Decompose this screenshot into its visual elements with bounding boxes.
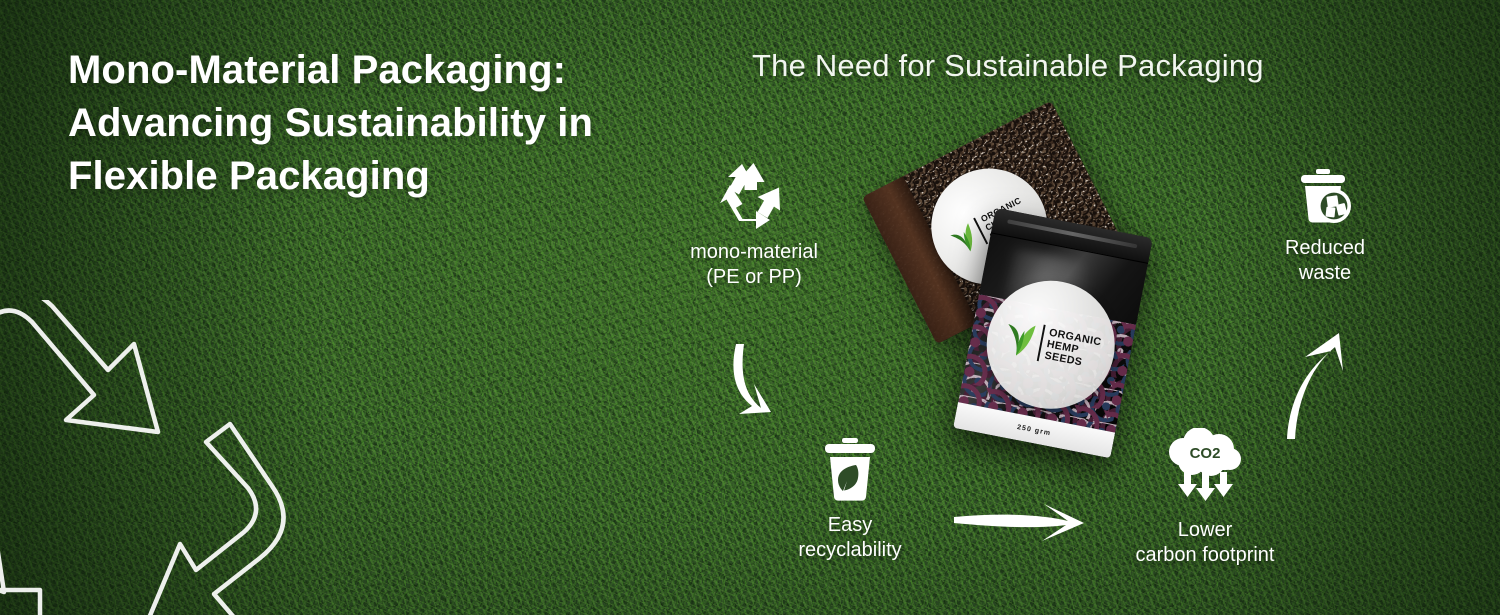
sustainable-packaging-banner: Mono-Material Packaging: Advancing Susta…: [0, 0, 1500, 615]
page-title: Mono-Material Packaging: Advancing Susta…: [68, 44, 628, 203]
co2-icon-label: CO2: [1190, 445, 1221, 462]
trash-reduce-icon: [1296, 168, 1354, 226]
hemp-pack-weight: 250 grm: [1016, 423, 1051, 436]
co2-cloud-arrows-icon: CO2: [1159, 428, 1251, 508]
node-mono-material-caption-line-1: mono-material: [634, 240, 874, 265]
node-lower-carbon-footprint-caption-line-1: Lower: [1085, 518, 1325, 543]
subtitle: The Need for Sustainable Packaging: [752, 48, 1264, 84]
headline-line-1: Mono-Material Packaging:: [68, 44, 628, 97]
node-mono-material: mono-material (PE or PP): [634, 160, 874, 290]
headline-line-3: Flexible Packaging: [68, 150, 628, 203]
node-mono-material-caption-line-2: (PE or PP): [634, 265, 874, 290]
hemp-brand-words: ORGANIC HEMP SEEDS: [1043, 327, 1102, 371]
product-packs: ORGANIC CHIA SEEDS: [880, 132, 1170, 462]
node-reduced-waste-caption-line-2: waste: [1230, 261, 1420, 286]
headline-line-2: Advancing Sustainability in: [68, 97, 628, 150]
trash-leaf-icon: [821, 437, 879, 503]
node-easy-recyclability-caption-line-1: Easy: [730, 513, 970, 538]
recycle-icon: [717, 160, 791, 230]
node-easy-recyclability-caption-line-2: recyclability: [730, 538, 970, 563]
leaf-logo-icon: [999, 317, 1038, 359]
hemp-brand-lockup: ORGANIC HEMP SEEDS: [999, 317, 1102, 372]
node-reduced-waste-caption-line-1: Reduced: [1230, 236, 1420, 261]
node-reduced-waste: Reduced waste: [1230, 168, 1420, 286]
node-lower-carbon-footprint-caption-line-2: carbon footprint: [1085, 543, 1325, 568]
